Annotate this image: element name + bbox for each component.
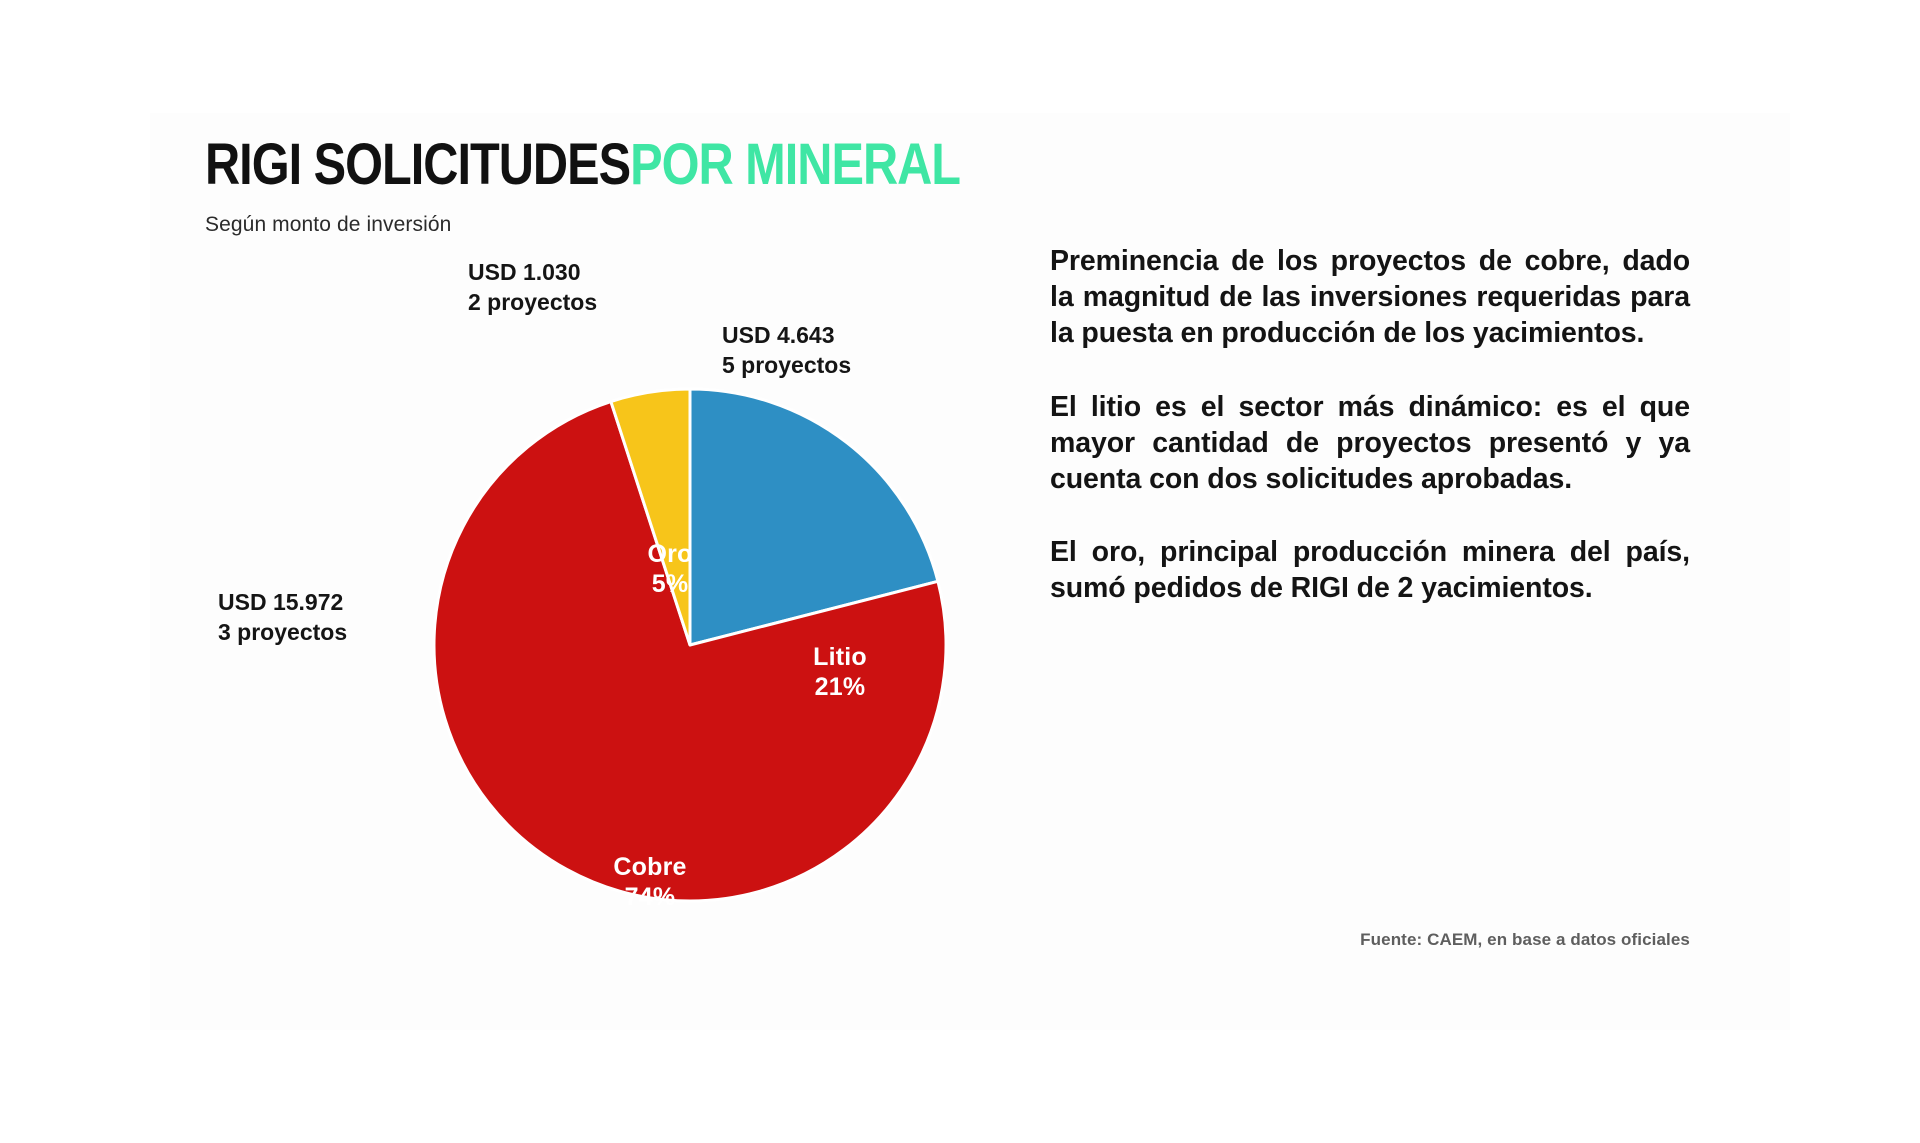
page-title: RIGI SOLICITUDESPOR MINERAL bbox=[205, 135, 1381, 196]
page-title-accent: POR MINERAL bbox=[630, 132, 960, 197]
page-subtitle: Según monto de inversión bbox=[205, 196, 1605, 237]
callout-litio: USD 4.643 5 proyectos bbox=[722, 321, 851, 381]
callout-cobre: USD 15.972 3 proyectos bbox=[218, 588, 347, 648]
commentary-paragraph: El oro, principal producción minera del … bbox=[1050, 534, 1690, 606]
pie-chart-panel: USD 1.030 2 proyectos USD 4.643 5 proyec… bbox=[150, 233, 1040, 1023]
callout-litio-projects: 5 proyectos bbox=[722, 351, 851, 381]
page-background: RIGI SOLICITUDESPOR MINERAL Según monto … bbox=[0, 0, 1920, 1143]
callout-cobre-projects: 3 proyectos bbox=[218, 618, 347, 648]
pie-chart-svg bbox=[430, 385, 950, 905]
commentary-panel: Preminencia de los proyectos de cobre, d… bbox=[1050, 243, 1690, 607]
callout-litio-amount: USD 4.643 bbox=[722, 321, 851, 351]
page-title-main: RIGI SOLICITUDES bbox=[205, 132, 630, 197]
callout-oro-amount: USD 1.030 bbox=[468, 258, 597, 288]
source-note: Fuente: CAEM, en base a datos oficiales bbox=[1050, 930, 1690, 950]
pie-chart: Litio 21% Cobre 74% Oro 5% bbox=[430, 385, 950, 905]
infographic-card: RIGI SOLICITUDESPOR MINERAL Según monto … bbox=[150, 113, 1790, 1030]
callout-cobre-amount: USD 15.972 bbox=[218, 588, 347, 618]
callout-oro: USD 1.030 2 proyectos bbox=[468, 258, 597, 318]
header: RIGI SOLICITUDESPOR MINERAL Según monto … bbox=[205, 135, 1605, 237]
commentary-paragraph: Preminencia de los proyectos de cobre, d… bbox=[1050, 243, 1690, 352]
commentary-paragraph: El litio es el sector más dinámico: es e… bbox=[1050, 389, 1690, 498]
callout-oro-projects: 2 proyectos bbox=[468, 288, 597, 318]
